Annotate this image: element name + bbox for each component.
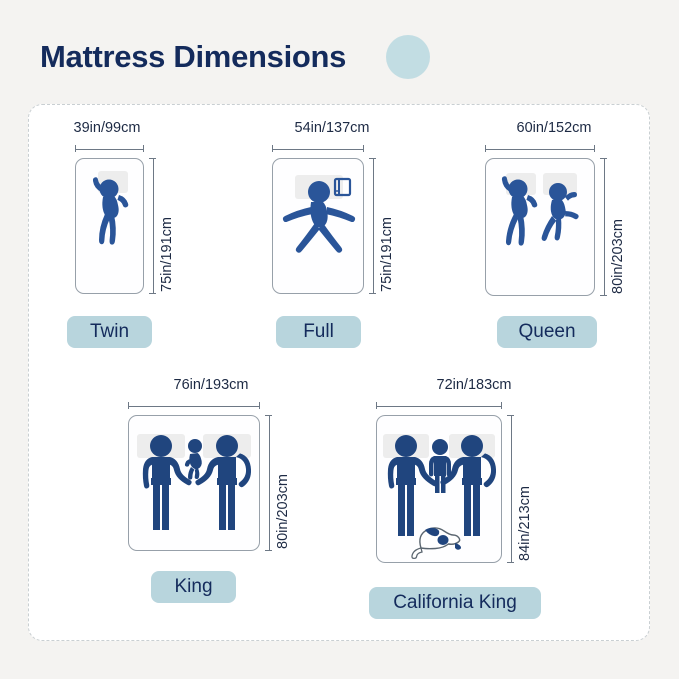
king-height-dimension-line [265, 415, 272, 551]
bed-name-twin: Twin [90, 321, 129, 343]
title-accent-circle [386, 35, 430, 79]
queen-width-dimension-line [485, 145, 595, 152]
full-width-label: 54in/137cm [257, 120, 407, 136]
bed-name-king: King [174, 576, 212, 598]
queen-occupant-illustration [486, 159, 595, 296]
cal-king-height-dimension-line [507, 415, 514, 563]
california-king-mattress [376, 415, 502, 563]
full-width-dimension-line [272, 145, 364, 152]
bed-name-california-king: California King [393, 592, 517, 614]
page-title: Mattress Dimensions [40, 34, 346, 80]
bed-card-full[interactable]: 54in/137cm 75in/19 [257, 120, 407, 360]
twin-height-label: 75in/191cm [159, 217, 175, 292]
bed-name-badge-queen[interactable]: Queen [497, 316, 597, 348]
queen-mattress [485, 158, 595, 296]
bed-name-queen: Queen [518, 321, 575, 343]
bed-card-king[interactable]: 76in/193cm [111, 377, 311, 627]
queen-height-label: 80in/203cm [610, 219, 626, 294]
baby-figure [185, 439, 202, 480]
dog-icon [412, 528, 461, 559]
king-height-label: 80in/203cm [275, 474, 291, 549]
bed-card-twin[interactable]: 39in/99cm 75in/191cm Twin [43, 120, 171, 360]
bed-card-california-king[interactable]: 72in/183cm [359, 377, 589, 637]
full-height-label: 75in/191cm [379, 217, 395, 292]
king-width-label: 76in/193cm [111, 377, 311, 393]
twin-occupant-illustration [76, 159, 144, 294]
adult-figure-spread [283, 181, 355, 253]
bed-card-queen[interactable]: 60in/152cm [471, 120, 637, 360]
king-width-dimension-line [128, 402, 260, 409]
california-king-occupant-illustration [377, 416, 502, 563]
full-height-dimension-line [369, 158, 376, 294]
diagram-panel: 39in/99cm 75in/191cm Twin 54in/137cm [28, 104, 650, 641]
twin-width-label: 39in/99cm [43, 120, 171, 136]
bed-name-badge-twin[interactable]: Twin [67, 316, 152, 348]
twin-mattress [75, 158, 144, 294]
page-title-text: Mattress Dimensions [40, 39, 346, 75]
queen-width-label: 60in/152cm [471, 120, 637, 136]
cal-king-width-dimension-line [376, 402, 502, 409]
full-mattress [272, 158, 364, 294]
king-occupant-illustration [129, 416, 260, 551]
bed-name-badge-king[interactable]: King [151, 571, 236, 603]
cal-king-height-label: 84in/213cm [517, 486, 533, 561]
full-occupant-illustration [273, 159, 364, 294]
bed-name-badge-california-king[interactable]: California King [369, 587, 541, 619]
cal-king-width-label: 72in/183cm [359, 377, 589, 393]
twin-height-dimension-line [149, 158, 156, 294]
queen-height-dimension-line [600, 158, 607, 296]
bed-name-badge-full[interactable]: Full [276, 316, 361, 348]
bed-name-full: Full [303, 321, 334, 343]
twin-width-dimension-line [75, 145, 144, 152]
king-mattress [128, 415, 260, 551]
